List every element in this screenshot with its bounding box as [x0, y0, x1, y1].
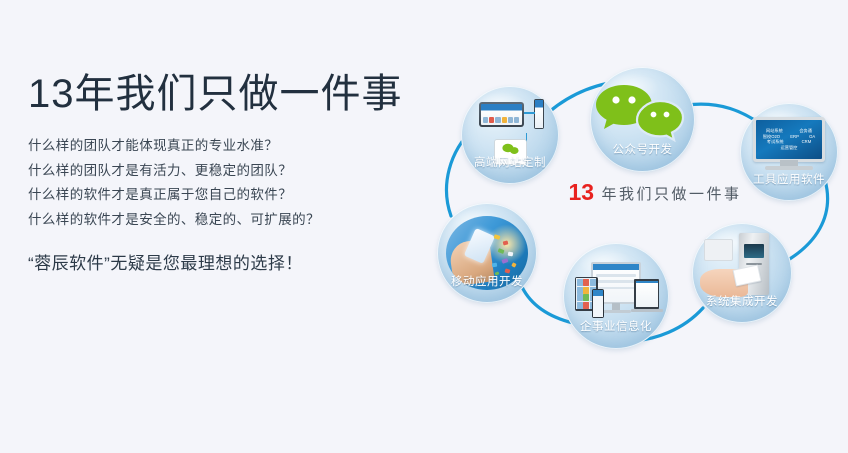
page-title: 13年我们只做一件事 [28, 70, 428, 118]
monitor-screen: 网站系统 会务通 智校O2O ERP OA 考试系统 CRM [756, 120, 823, 159]
copy-block: 13年我们只做一件事 什么样的团队才能体现真正的专业水准？ 什么样的团队才是有活… [28, 70, 428, 277]
node-system-integration-dev[interactable]: 系统集成开发 [692, 223, 792, 323]
node-label: 工具应用软件 [740, 171, 838, 187]
node-enterprise-informatization[interactable]: 企事业信息化 [563, 243, 669, 349]
tablet-icon [479, 102, 524, 127]
node-official-account-dev[interactable]: 公众号开发 [590, 67, 695, 172]
node-mobile-app-dev[interactable]: 移动应用开发 [437, 203, 537, 303]
center-number: 13 [568, 179, 594, 205]
screen-tag: 运营管控 [781, 145, 798, 151]
closing-statement: “蓉辰软件”无疑是您最理想的选择！ [28, 251, 428, 277]
node-label: 系统集成开发 [692, 293, 792, 309]
question-line-3: 什么样的软件才是真正属于您自己的软件？ [28, 183, 428, 208]
node-label: 公众号开发 [590, 141, 695, 157]
service-cycle-diagram: 高端网站定制 公众号开发 [425, 55, 848, 355]
monitor-base [765, 166, 812, 170]
node-label: 企事业信息化 [563, 318, 669, 334]
node-label: 高端网站定制 [461, 154, 559, 170]
question-line-2: 什么样的团队才是有活力、更稳定的团队？ [28, 159, 428, 184]
desktop-monitor-icon: 网站系统 会务通 智校O2O ERP OA 考试系统 CRM [753, 117, 826, 162]
question-list: 什么样的团队才能体现真正的专业水准？ 什么样的团队才是有活力、更稳定的团队？ 什… [28, 134, 428, 232]
phone-icon [592, 289, 605, 319]
screen-row-4: 运营管控 [758, 145, 821, 151]
wall-panel-icon [704, 239, 733, 261]
arrow-right-icon [524, 112, 536, 114]
banner-hero: 13年我们只做一件事 什么样的团队才能体现真正的专业水准？ 什么样的团队才是有活… [0, 0, 848, 453]
node-label: 移动应用开发 [437, 273, 537, 289]
question-line-4: 什么样的软件才是安全的、稳定的、可扩展的？ [28, 208, 428, 233]
monitor-base [601, 310, 631, 314]
question-line-1: 什么样的团队才能体现真正的专业水准？ [28, 134, 428, 159]
laptop-icon [634, 279, 659, 309]
node-high-end-website[interactable]: 高端网站定制 [461, 86, 559, 184]
laptop-base [631, 309, 663, 312]
diagram-center-label: 13 年我们只做一件事 [565, 179, 745, 206]
node-tool-application-software[interactable]: 网站系统 会务通 智校O2O ERP OA 考试系统 CRM [740, 103, 838, 201]
center-text: 年我们只做一件事 [602, 186, 742, 203]
